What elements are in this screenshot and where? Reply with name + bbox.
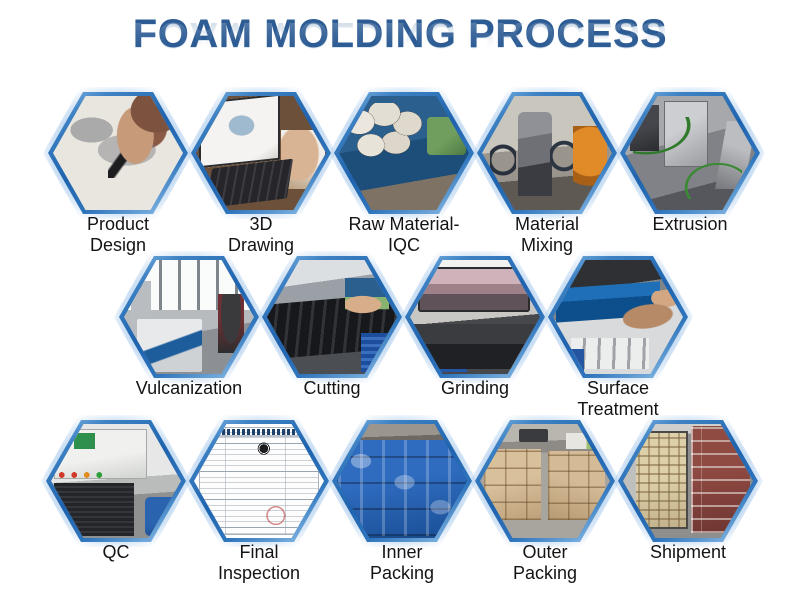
process-row-3: QC Final Inspection Inner Packing <box>0 420 800 600</box>
hexagon-frame <box>262 256 402 378</box>
process-step-grinding[interactable]: Grinding <box>405 256 545 378</box>
step-label: Raw Material- IQC <box>324 214 484 256</box>
process-step-vulcanization[interactable]: Vulcanization <box>119 256 259 378</box>
step-label: Product Design <box>38 214 198 256</box>
hexagon-frame <box>477 92 617 214</box>
process-step-inner-packing[interactable]: Inner Packing <box>332 420 472 542</box>
process-step-3d-drawing[interactable]: 3D Drawing <box>191 92 331 214</box>
hexagon-frame <box>405 256 545 378</box>
process-step-surface-treatment[interactable]: Surface Treatment <box>548 256 688 378</box>
step-label: Grinding <box>395 378 555 399</box>
process-step-cutting[interactable]: Cutting <box>262 256 402 378</box>
step-label: Outer Packing <box>465 542 625 584</box>
process-step-qc[interactable]: QC <box>46 420 186 542</box>
hexagon-frame <box>332 420 472 542</box>
hexagon-frame <box>48 92 188 214</box>
hexagon-frame <box>548 256 688 378</box>
step-label: Final Inspection <box>179 542 339 584</box>
process-step-product-design[interactable]: Product Design <box>48 92 188 214</box>
step-label: 3D Drawing <box>181 214 341 256</box>
step-label: Inner Packing <box>322 542 482 584</box>
step-label: Surface Treatment <box>538 378 698 420</box>
hexagon-frame <box>191 92 331 214</box>
hexagon-frame <box>46 420 186 542</box>
hexagon-frame <box>475 420 615 542</box>
step-label: Material Mixing <box>467 214 627 256</box>
hexagon-frame <box>119 256 259 378</box>
step-label: Vulcanization <box>109 378 269 399</box>
hexagon-frame <box>618 420 758 542</box>
step-label: Extrusion <box>610 214 770 235</box>
process-step-outer-packing[interactable]: Outer Packing <box>475 420 615 542</box>
hexagon-frame <box>334 92 474 214</box>
process-step-material-mixing[interactable]: Material Mixing <box>477 92 617 214</box>
process-row-2: Vulcanization Cutting Grinding <box>0 256 800 436</box>
process-row-1: Product Design 3D Drawing Raw Material- … <box>0 92 800 272</box>
step-label: Cutting <box>252 378 412 399</box>
step-label: QC <box>36 542 196 563</box>
process-step-final-inspection[interactable]: Final Inspection <box>189 420 329 542</box>
title-block: FOAM MOLDING PROCESS FOAM MOLDING PROCES… <box>0 14 800 96</box>
step-label: Shipment <box>608 542 768 563</box>
process-step-extrusion[interactable]: Extrusion <box>620 92 760 214</box>
process-step-shipment[interactable]: Shipment <box>618 420 758 542</box>
process-step-raw-material-iqc[interactable]: Raw Material- IQC <box>334 92 474 214</box>
hexagon-frame <box>189 420 329 542</box>
page-title-reflection: FOAM MOLDING PROCESS <box>0 16 800 56</box>
hexagon-frame <box>620 92 760 214</box>
